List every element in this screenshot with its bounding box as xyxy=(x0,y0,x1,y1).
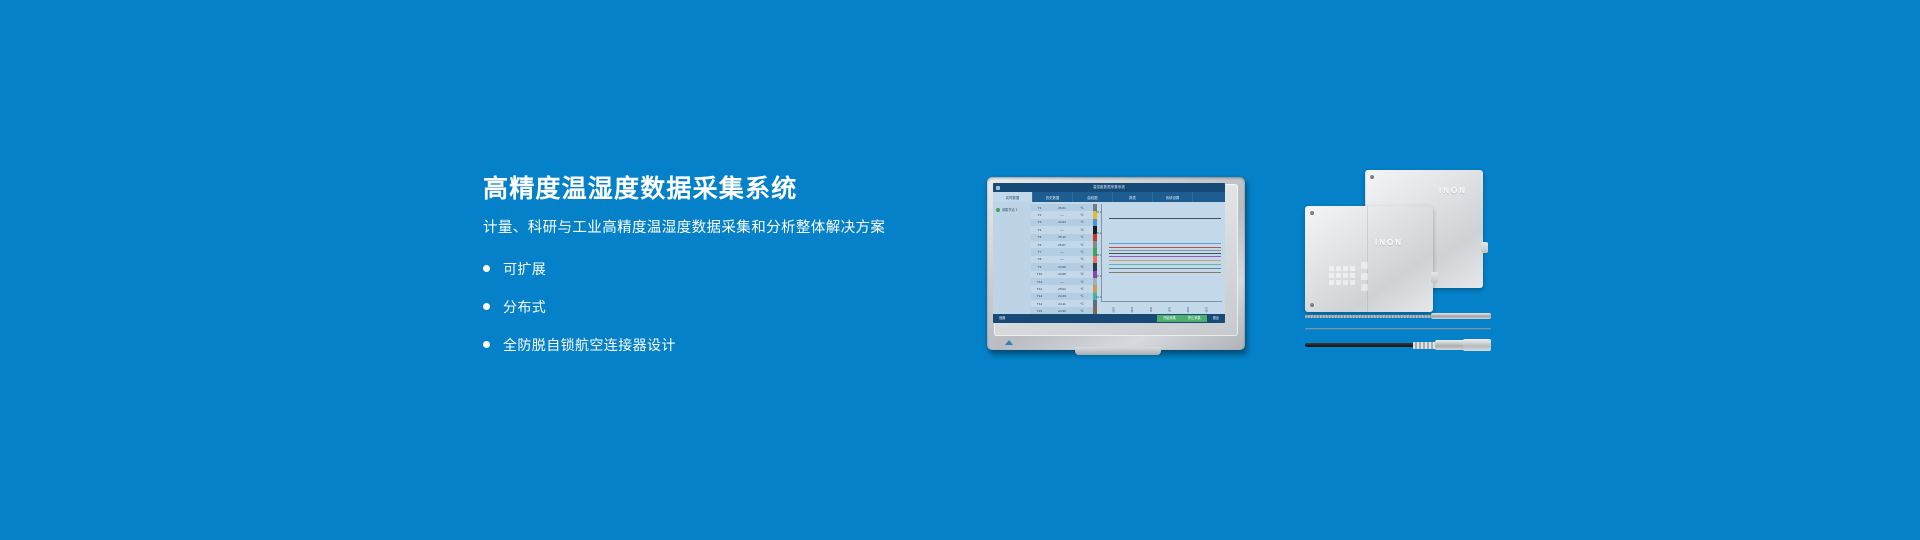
page-title: 高精度温湿度数据采集系统 xyxy=(483,176,953,204)
port-icon xyxy=(1350,273,1355,278)
page-subtitle: 计量、科研与工业高精度温湿度数据采集和分析整体解决方案 xyxy=(483,220,953,237)
app-body: 采集节点 1 T125.01℃T2----℃T324.94℃T4----℃T52… xyxy=(993,202,1225,314)
mounting-lug xyxy=(1481,242,1488,253)
monitor-device: 温湿度数据采集系统 实时数据 历史数据 曲线图 报表 系统设置 采集节点 1 T… xyxy=(987,177,1249,357)
port-icon xyxy=(1336,273,1341,278)
chart-x-tick: 12:00 xyxy=(1186,307,1189,312)
port-icon xyxy=(1350,280,1355,285)
probe-tip xyxy=(1431,313,1491,319)
chart-x-tick: 10:30 xyxy=(1130,307,1133,312)
cell-value: 25.02 xyxy=(1048,287,1076,291)
aviation-connector-column xyxy=(1361,262,1368,291)
table-row[interactable]: T1024.88℃ xyxy=(1031,271,1093,278)
brand-logo: INON xyxy=(1439,186,1467,195)
settings-button[interactable]: 设置 xyxy=(993,315,1011,322)
tab-chart[interactable]: 曲线图 xyxy=(1073,192,1113,202)
cell-channel: T15 xyxy=(1031,309,1048,313)
channel-table: T125.01℃T2----℃T324.94℃T4----℃T525.12℃T6… xyxy=(1031,204,1093,322)
probe-black-cable xyxy=(1305,343,1417,347)
table-row[interactable]: T11----℃ xyxy=(1031,278,1093,285)
table-row[interactable]: T2----℃ xyxy=(1031,211,1093,218)
app-title: 温湿度数据采集系统 xyxy=(993,183,1225,192)
cell-channel: T10 xyxy=(1031,272,1048,276)
cell-channel: T3 xyxy=(1031,220,1048,224)
chart-x-tick: 12:30 xyxy=(1205,307,1208,312)
connector-port-grid xyxy=(1329,266,1355,285)
cell-channel: T6 xyxy=(1031,243,1048,247)
cell-channel: T12 xyxy=(1031,287,1048,291)
table-row[interactable]: T1225.02℃ xyxy=(1031,285,1093,292)
bullet-dot-icon xyxy=(483,303,490,310)
cell-value: ---- xyxy=(1048,213,1076,217)
tree-node-label: 采集节点 1 xyxy=(1002,207,1017,212)
cell-value: 24.88 xyxy=(1048,272,1076,276)
enclosure-seam xyxy=(1367,206,1368,312)
chart-series-line xyxy=(1109,264,1221,265)
legend-swatch xyxy=(1093,278,1097,285)
table-row[interactable]: T625.07℃ xyxy=(1031,241,1093,248)
list-item: 可扩展 xyxy=(483,259,953,279)
cell-channel: T8 xyxy=(1031,257,1048,261)
feature-label: 可扩展 xyxy=(503,259,546,279)
tab-history[interactable]: 历史数据 xyxy=(1033,192,1073,202)
chart-x-tick: 11:00 xyxy=(1149,307,1152,312)
cell-unit: ℃ xyxy=(1076,257,1088,261)
bullet-dot-icon xyxy=(483,265,490,272)
realtime-line-chart: 25.325.225.125.024.910:0010:3011:0011:30… xyxy=(1101,204,1222,302)
tab-settings[interactable]: 系统设置 xyxy=(1153,192,1193,202)
cell-value: ---- xyxy=(1048,280,1076,284)
cell-channel: T1 xyxy=(1031,206,1048,210)
cell-unit: ℃ xyxy=(1076,250,1088,254)
stop-acquisition-button[interactable]: 停止采集 xyxy=(1182,315,1207,322)
cell-value: 24.11 xyxy=(1048,302,1076,306)
tab-report[interactable]: 报表 xyxy=(1113,192,1153,202)
cell-value: 24.90 xyxy=(1048,309,1076,313)
cell-channel: T9 xyxy=(1031,265,1048,269)
legend-swatch xyxy=(1093,285,1097,292)
port-icon xyxy=(1336,266,1341,271)
cell-value: 25.07 xyxy=(1048,243,1076,247)
probe-armored xyxy=(1305,313,1491,319)
cell-unit: ℃ xyxy=(1076,309,1088,313)
status-online-icon xyxy=(996,208,1000,212)
feature-label: 全防脱自锁航空连接器设计 xyxy=(503,335,676,355)
probe-cable xyxy=(1305,315,1433,318)
app-titlebar: 温湿度数据采集系统 xyxy=(993,183,1225,192)
start-acquisition-button[interactable]: 开始采集 xyxy=(1157,315,1182,322)
feature-list: 可扩展 分布式 全防脱自锁航空连接器设计 xyxy=(483,259,953,355)
cell-unit: ℃ xyxy=(1076,235,1088,239)
probe-connector-head xyxy=(1463,339,1491,351)
port-icon xyxy=(1329,266,1334,271)
cell-unit: ℃ xyxy=(1076,280,1088,284)
port-icon xyxy=(1329,273,1334,278)
aviation-connector-icon xyxy=(1361,284,1368,291)
cell-channel: T14 xyxy=(1031,302,1048,306)
screw-icon xyxy=(1310,303,1314,307)
chart-y-tick: 25.3 xyxy=(1096,210,1101,214)
probe-connector-barrel xyxy=(1435,340,1465,350)
table-row[interactable]: T924.98℃ xyxy=(1031,263,1093,270)
port-icon xyxy=(1343,266,1348,271)
list-item: 分布式 xyxy=(483,297,953,317)
cell-channel: T5 xyxy=(1031,235,1048,239)
table-row[interactable]: T1324.39℃ xyxy=(1031,293,1093,300)
probe-ferrule xyxy=(1413,342,1437,349)
cell-channel: T2 xyxy=(1031,213,1048,217)
legend-swatch xyxy=(1093,263,1097,270)
bullet-dot-icon xyxy=(483,341,490,348)
table-row[interactable]: T324.94℃ xyxy=(1031,219,1093,226)
cell-value: 24.94 xyxy=(1048,220,1076,224)
chart-y-tick: 25.2 xyxy=(1096,231,1101,235)
cell-channel: T7 xyxy=(1031,250,1048,254)
cell-unit: ℃ xyxy=(1076,243,1088,247)
screw-icon xyxy=(1370,175,1374,179)
chart-series-line xyxy=(1109,256,1221,257)
port-icon xyxy=(1336,280,1341,285)
chart-series-line xyxy=(1109,243,1221,244)
monitor-stand xyxy=(1075,347,1161,355)
chart-series-line xyxy=(1109,218,1221,219)
legend-swatch xyxy=(1093,219,1097,226)
cell-value: 25.01 xyxy=(1048,206,1076,210)
aviation-connector-icon xyxy=(1361,262,1368,269)
table-row[interactable]: T7----℃ xyxy=(1031,248,1093,255)
sensor-probes xyxy=(1305,313,1491,363)
port-icon xyxy=(1329,280,1334,285)
legend-swatch xyxy=(1093,300,1097,307)
chart-x-tick: 11:30 xyxy=(1167,307,1170,312)
chart-y-tick: 25.0 xyxy=(1096,274,1101,278)
chart-series-line xyxy=(1109,260,1221,261)
aviation-connector-icon xyxy=(1361,273,1368,280)
tree-node-item[interactable]: 采集节点 1 xyxy=(996,207,1031,212)
cell-unit: ℃ xyxy=(1076,228,1088,232)
cell-channel: T4 xyxy=(1031,228,1048,232)
app-footer-toolbar: 设置 开始采集 停止采集 退出 xyxy=(993,314,1225,323)
port-icon xyxy=(1343,273,1348,278)
table-row[interactable]: T125.01℃ xyxy=(1031,204,1093,211)
chart-series-line xyxy=(1109,253,1221,254)
port-icon xyxy=(1350,266,1355,271)
cell-unit: ℃ xyxy=(1076,220,1088,224)
banner-copy: 高精度温湿度数据采集系统 计量、科研与工业高精度温湿度数据采集和分析整体解决方案… xyxy=(483,176,953,373)
list-item: 全防脱自锁航空连接器设计 xyxy=(483,335,953,355)
enclosure-front-unit: INON xyxy=(1305,206,1433,312)
app-tabbar: 实时数据 历史数据 曲线图 报表 系统设置 xyxy=(993,192,1225,202)
cell-unit: ℃ xyxy=(1076,287,1088,291)
cell-unit: ℃ xyxy=(1076,265,1088,269)
port-icon xyxy=(1343,280,1348,285)
brand-logo: INON xyxy=(1375,238,1403,247)
cell-unit: ℃ xyxy=(1076,272,1088,276)
cell-channel: T13 xyxy=(1031,294,1048,298)
probe-thin-wire xyxy=(1305,327,1491,331)
table-row[interactable]: T4----℃ xyxy=(1031,226,1093,233)
chart-series-line xyxy=(1109,247,1221,248)
chart-series-line xyxy=(1109,272,1221,273)
cell-unit: ℃ xyxy=(1076,206,1088,210)
probe-aviation-connector xyxy=(1305,339,1491,351)
table-row[interactable]: T1424.11℃ xyxy=(1031,300,1093,307)
channel-color-legend xyxy=(1093,204,1097,322)
cell-channel: T11 xyxy=(1031,280,1048,284)
cell-unit: ℃ xyxy=(1076,294,1088,298)
chart-x-tick: 10:00 xyxy=(1112,307,1115,312)
cell-value: 24.98 xyxy=(1048,265,1076,269)
device-tree-panel: 采集节点 1 xyxy=(993,202,1031,314)
monitor-screen: 温湿度数据采集系统 实时数据 历史数据 曲线图 报表 系统设置 采集节点 1 T… xyxy=(993,183,1225,323)
cell-value: ---- xyxy=(1048,228,1076,232)
chart-y-tick: 24.9 xyxy=(1096,295,1101,299)
cell-value: 24.39 xyxy=(1048,294,1076,298)
cell-value: ---- xyxy=(1048,257,1076,261)
chart-series-line xyxy=(1109,268,1221,269)
table-row[interactable]: T525.12℃ xyxy=(1031,234,1093,241)
mounting-lug xyxy=(1431,272,1438,283)
legend-swatch xyxy=(1093,241,1097,248)
product-banner: 高精度温湿度数据采集系统 计量、科研与工业高精度温湿度数据采集和分析整体解决方案… xyxy=(0,0,1920,540)
exit-button[interactable]: 退出 xyxy=(1207,315,1225,322)
table-row[interactable]: T8----℃ xyxy=(1031,256,1093,263)
screw-icon xyxy=(1310,211,1314,215)
cell-value: ---- xyxy=(1048,250,1076,254)
tab-realtime[interactable]: 实时数据 xyxy=(993,192,1033,202)
cell-value: 25.12 xyxy=(1048,235,1076,239)
probe-wire xyxy=(1305,328,1491,330)
feature-label: 分布式 xyxy=(503,297,546,317)
chart-series-line xyxy=(1109,250,1221,251)
chart-y-tick: 25.1 xyxy=(1096,253,1101,257)
cell-unit: ℃ xyxy=(1076,302,1088,306)
cell-unit: ℃ xyxy=(1076,213,1088,217)
legend-swatch xyxy=(1093,256,1097,263)
